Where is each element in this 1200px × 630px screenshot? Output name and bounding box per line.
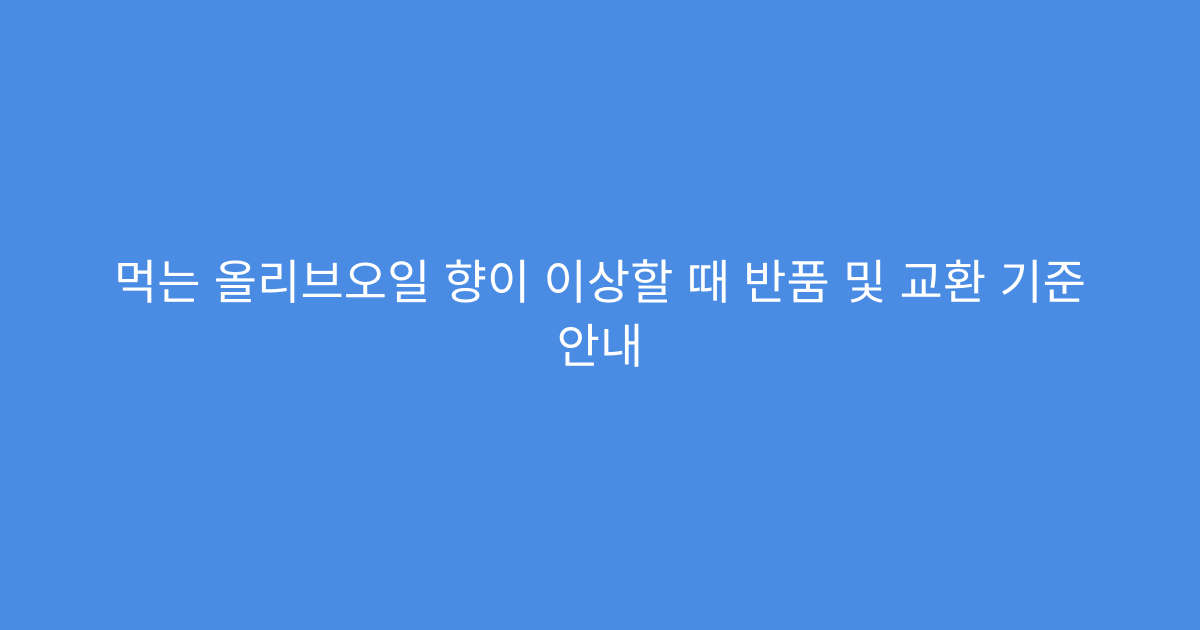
page-title: 먹는 올리브오일 향이 이상할 때 반품 및 교환 기준 안내 — [70, 251, 1130, 379]
og-title-card: 먹는 올리브오일 향이 이상할 때 반품 및 교환 기준 안내 — [0, 0, 1200, 630]
